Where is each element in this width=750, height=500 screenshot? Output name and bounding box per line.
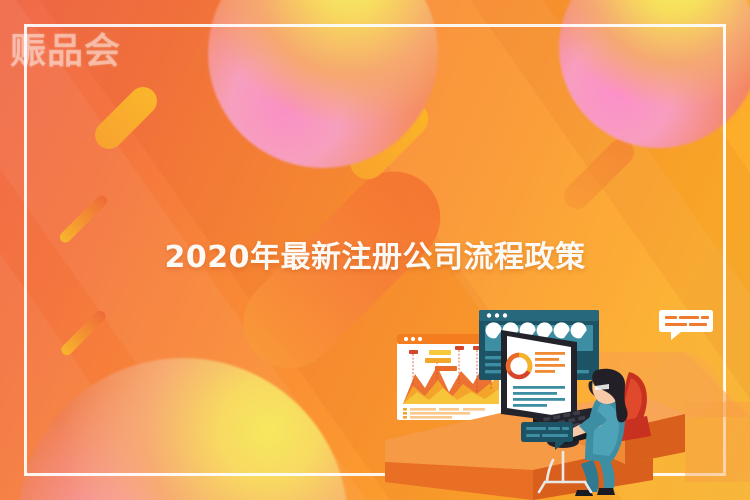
gradient-sphere-bottom-left — [18, 358, 348, 500]
business-illustration — [385, 292, 750, 500]
capsule-stripe-thin-3 — [559, 134, 640, 215]
speech-bubble-light — [659, 310, 713, 340]
watermark-logo: 赈品会 — [10, 22, 121, 74]
gradient-sphere-top-right — [559, 0, 750, 148]
gradient-sphere-top-center — [208, 0, 438, 168]
capsule-stripe-medium — [342, 93, 435, 186]
promo-banner: 赈品会 2020年最新注册公司流程政策 — [0, 0, 750, 500]
capsule-stripe-thin-2 — [59, 309, 108, 358]
page-title: 2020年最新注册公司流程政策 — [0, 232, 750, 276]
capsule-stripe-small-1 — [89, 81, 163, 155]
